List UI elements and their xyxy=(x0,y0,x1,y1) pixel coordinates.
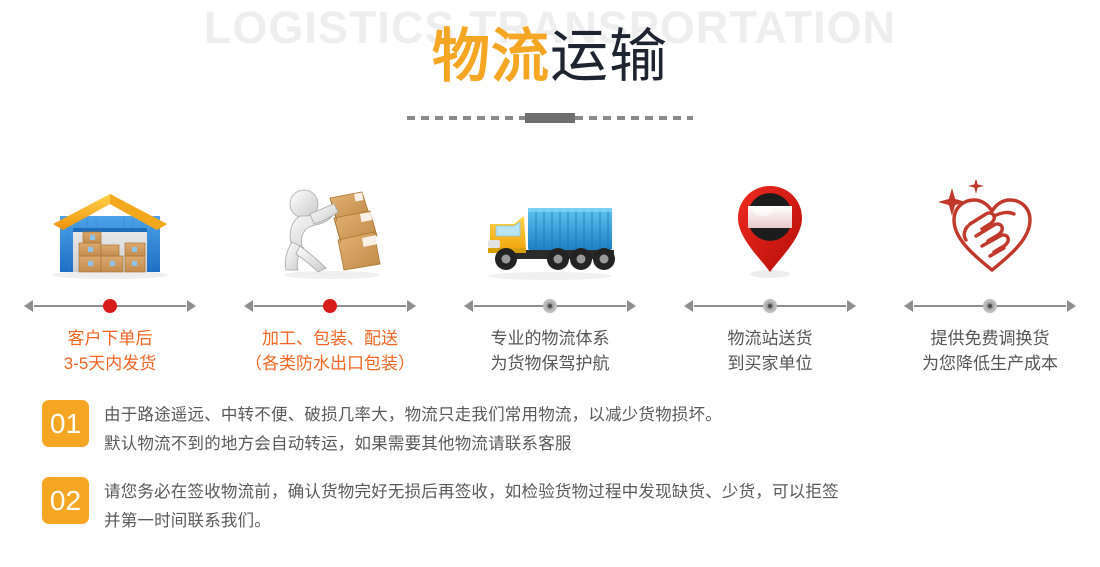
timeline-arrow-right-icon xyxy=(627,300,636,312)
timeline-arrow-left-icon xyxy=(904,300,913,312)
heart-handshake-icon xyxy=(930,170,1050,280)
logistics-transportation-banner: LOGISTICS TRANSPORTATION 物流运输 xyxy=(0,0,1100,567)
feature-item: 物流站送货 到买家单位 xyxy=(660,170,880,376)
divider-block xyxy=(525,113,575,123)
note-item: 01 由于路途遥远、中转不便、破损几率大，物流只走我们常用物流，以减少货物损坏。… xyxy=(42,400,1072,459)
timeline-dot xyxy=(103,299,117,313)
feature-caption-line: 客户下单后 xyxy=(64,326,157,351)
feature-caption-line: 为您降低生产成本 xyxy=(922,351,1058,376)
timeline-bar xyxy=(244,298,416,314)
warehouse-icon xyxy=(45,170,175,280)
feature-caption: 物流站送货 到买家单位 xyxy=(728,326,813,376)
timeline-dot xyxy=(543,299,557,313)
note-number-badge: 02 xyxy=(42,477,89,524)
page-title-orange: 物流 xyxy=(432,24,550,89)
note-text: 由于路途遥远、中转不便、破损几率大，物流只走我们常用物流，以减少货物损坏。 默认… xyxy=(104,400,722,459)
feature-caption-line: 提供免费调换货 xyxy=(922,326,1058,351)
timeline-arrow-right-icon xyxy=(407,300,416,312)
timeline-arrow-left-icon xyxy=(464,300,473,312)
feature-item: 加工、包装、配送 （各类防水出口包装） xyxy=(220,170,440,376)
feature-item: 专业的物流体系 为货物保驾护航 xyxy=(440,170,660,376)
timeline-arrow-left-icon xyxy=(24,300,33,312)
timeline-bar xyxy=(464,298,636,314)
notes-list: 01 由于路途遥远、中转不便、破损几率大，物流只走我们常用物流，以减少货物损坏。… xyxy=(42,400,1072,554)
timeline-dot xyxy=(323,299,337,313)
timeline-arrow-right-icon xyxy=(1067,300,1076,312)
divider-dash-left xyxy=(407,116,525,120)
feature-caption-line: （各类防水出口包装） xyxy=(245,351,415,376)
timeline-arrow-left-icon xyxy=(684,300,693,312)
feature-caption-line: 为货物保驾护航 xyxy=(491,351,610,376)
feature-caption-line: 到买家单位 xyxy=(728,351,813,376)
note-line: 默认物流不到的地方会自动转运，如果需要其他物流请联系客服 xyxy=(104,430,722,459)
feature-row: 客户下单后 3-5天内发货 xyxy=(0,170,1100,376)
worker-pushing-boxes-icon xyxy=(270,170,390,280)
divider-dash-right xyxy=(575,116,693,120)
note-number-badge: 01 xyxy=(42,400,89,447)
dashed-divider-icon xyxy=(0,113,1100,123)
timeline-arrow-left-icon xyxy=(244,300,253,312)
note-text: 请您务必在签收物流前，确认货物完好无损后再签收，如检验货物过程中发现缺货、少货，… xyxy=(104,477,839,536)
page-title: 物流运输 xyxy=(0,22,1100,92)
feature-caption: 专业的物流体系 为货物保驾护航 xyxy=(491,326,610,376)
timeline-bar xyxy=(904,298,1076,314)
feature-caption: 提供免费调换货 为您降低生产成本 xyxy=(922,326,1058,376)
feature-item: 提供免费调换货 为您降低生产成本 xyxy=(880,170,1100,376)
note-item: 02 请您务必在签收物流前，确认货物完好无损后再签收，如检验货物过程中发现缺货、… xyxy=(42,477,1072,536)
map-pin-icon xyxy=(730,170,810,280)
page-title-dark: 运输 xyxy=(550,24,668,89)
timeline-arrow-right-icon xyxy=(187,300,196,312)
container-truck-icon xyxy=(480,170,620,280)
note-line: 由于路途遥远、中转不便、破损几率大，物流只走我们常用物流，以减少货物损坏。 xyxy=(104,401,722,430)
feature-caption: 客户下单后 3-5天内发货 xyxy=(64,326,157,376)
feature-caption-line: 3-5天内发货 xyxy=(64,351,157,376)
timeline-dot xyxy=(763,299,777,313)
timeline-arrow-right-icon xyxy=(847,300,856,312)
note-line: 请您务必在签收物流前，确认货物完好无损后再签收，如检验货物过程中发现缺货、少货，… xyxy=(104,478,839,507)
feature-caption-line: 物流站送货 xyxy=(728,326,813,351)
feature-caption-line: 专业的物流体系 xyxy=(491,326,610,351)
timeline-dot xyxy=(983,299,997,313)
feature-item: 客户下单后 3-5天内发货 xyxy=(0,170,220,376)
banner-header: LOGISTICS TRANSPORTATION 物流运输 xyxy=(0,0,1100,145)
note-line: 并第一时间联系我们。 xyxy=(104,507,839,536)
feature-caption: 加工、包装、配送 （各类防水出口包装） xyxy=(245,326,415,376)
feature-caption-line: 加工、包装、配送 xyxy=(245,326,415,351)
timeline-bar xyxy=(24,298,196,314)
timeline-bar xyxy=(684,298,856,314)
